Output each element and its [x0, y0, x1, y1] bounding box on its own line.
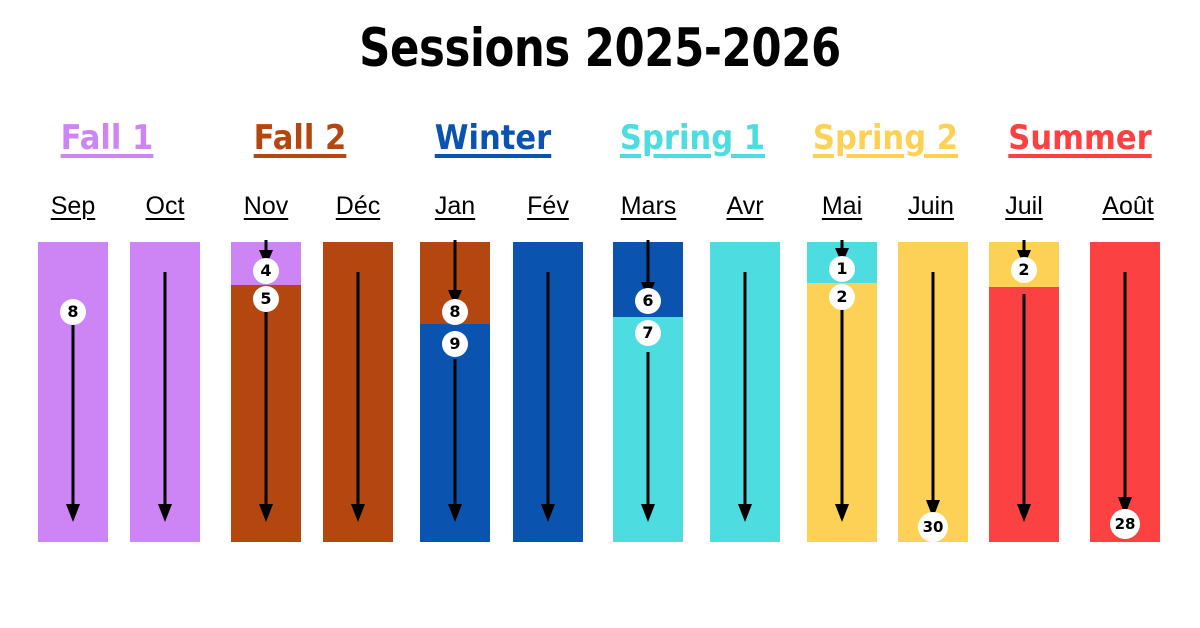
month-header-dec: Déc [323, 192, 393, 221]
season-header-summer: Summer [995, 118, 1166, 158]
chart-title: Sessions 2025-2026 [108, 18, 1092, 79]
month-header-jan: Jan [420, 192, 490, 221]
month-header-juin: Juin [896, 192, 966, 221]
month-header-fev: Fév [513, 192, 583, 221]
month-header-juil: Juil [989, 192, 1059, 221]
season-header-spring-2: Spring 2 [802, 118, 969, 158]
session-arrow-spring-2-end [915, 270, 951, 525]
session-arrow-summer-start [1006, 288, 1042, 535]
session-date-badge: 6 [635, 288, 661, 314]
chart-canvas: Sessions 2025-2026 Fall 1 Fall 2 Winter … [0, 0, 1200, 628]
session-arrow-spring-2-start [824, 290, 860, 535]
session-date-badge: 8 [442, 299, 468, 325]
season-header-fall-2: Fall 2 [224, 118, 377, 158]
month-header-sep: Sep [38, 192, 108, 221]
month-header-mars: Mars [611, 192, 686, 221]
session-arrow-fev [530, 270, 566, 535]
session-arrow-fall-2-start [248, 292, 284, 535]
session-date-badge: 28 [1110, 509, 1140, 539]
session-date-badge: 4 [253, 258, 279, 284]
session-date-badge: 2 [829, 284, 855, 310]
session-arrow-oct [147, 270, 183, 535]
session-arrow-dec [340, 270, 376, 535]
season-header-fall-1: Fall 1 [31, 118, 184, 158]
session-date-badge: 7 [635, 320, 661, 346]
session-arrow-summer-end [1107, 270, 1143, 522]
session-date-badge: 8 [60, 299, 86, 325]
month-header-oct: Oct [130, 192, 200, 221]
session-date-badge: 5 [253, 286, 279, 312]
session-arrow-fall-1-start [55, 300, 91, 535]
session-date-badge: 1 [829, 256, 855, 282]
month-header-aout: Août [1088, 192, 1168, 221]
session-date-badge: 9 [442, 331, 468, 357]
session-date-badge: 30 [918, 512, 948, 542]
session-arrow-spring-1-start [630, 348, 666, 536]
season-header-winter: Winter [417, 118, 570, 158]
session-arrow-winter-start [437, 355, 473, 535]
month-header-avr: Avr [710, 192, 780, 221]
month-header-nov: Nov [231, 192, 301, 221]
session-arrow-avr [727, 270, 763, 535]
season-header-spring-1: Spring 1 [609, 118, 776, 158]
month-header-mai: Mai [807, 192, 877, 221]
session-date-badge: 2 [1011, 257, 1037, 283]
